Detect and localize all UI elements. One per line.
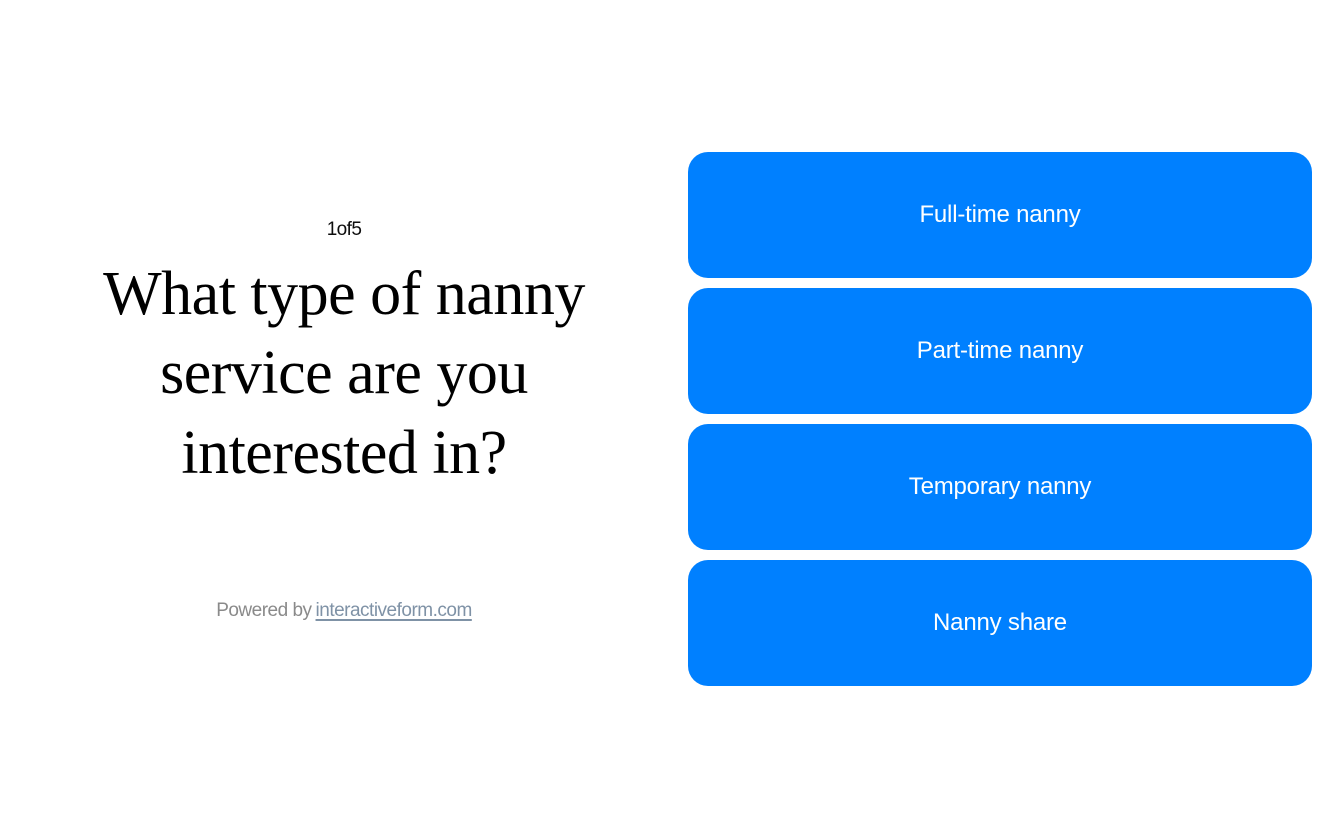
question-title: What type of nanny service are you inter… bbox=[54, 255, 634, 493]
choices-list: Full-time nanny Part-time nanny Temporar… bbox=[688, 152, 1312, 686]
choice-label: Nanny share bbox=[933, 611, 1067, 635]
choice-label: Part-time nanny bbox=[917, 339, 1083, 363]
choice-label: Full-time nanny bbox=[919, 203, 1080, 227]
choice-label: Temporary nanny bbox=[909, 475, 1091, 499]
choice-option-temporary-nanny[interactable]: Temporary nanny bbox=[688, 424, 1312, 550]
progress-counter: 1of5 bbox=[327, 220, 362, 239]
question-pane: 1of5 What type of nanny service are you … bbox=[0, 0, 688, 840]
choice-option-full-time-nanny[interactable]: Full-time nanny bbox=[688, 152, 1312, 278]
powered-by-footer: Powered byinteractiveform.com bbox=[216, 601, 472, 620]
powered-by-label: Powered by bbox=[216, 600, 311, 621]
interactiveform-link[interactable]: interactiveform.com bbox=[316, 600, 472, 621]
choice-option-part-time-nanny[interactable]: Part-time nanny bbox=[688, 288, 1312, 414]
choice-option-nanny-share[interactable]: Nanny share bbox=[688, 560, 1312, 686]
form-stage: 1of5 What type of nanny service are you … bbox=[0, 0, 1344, 840]
